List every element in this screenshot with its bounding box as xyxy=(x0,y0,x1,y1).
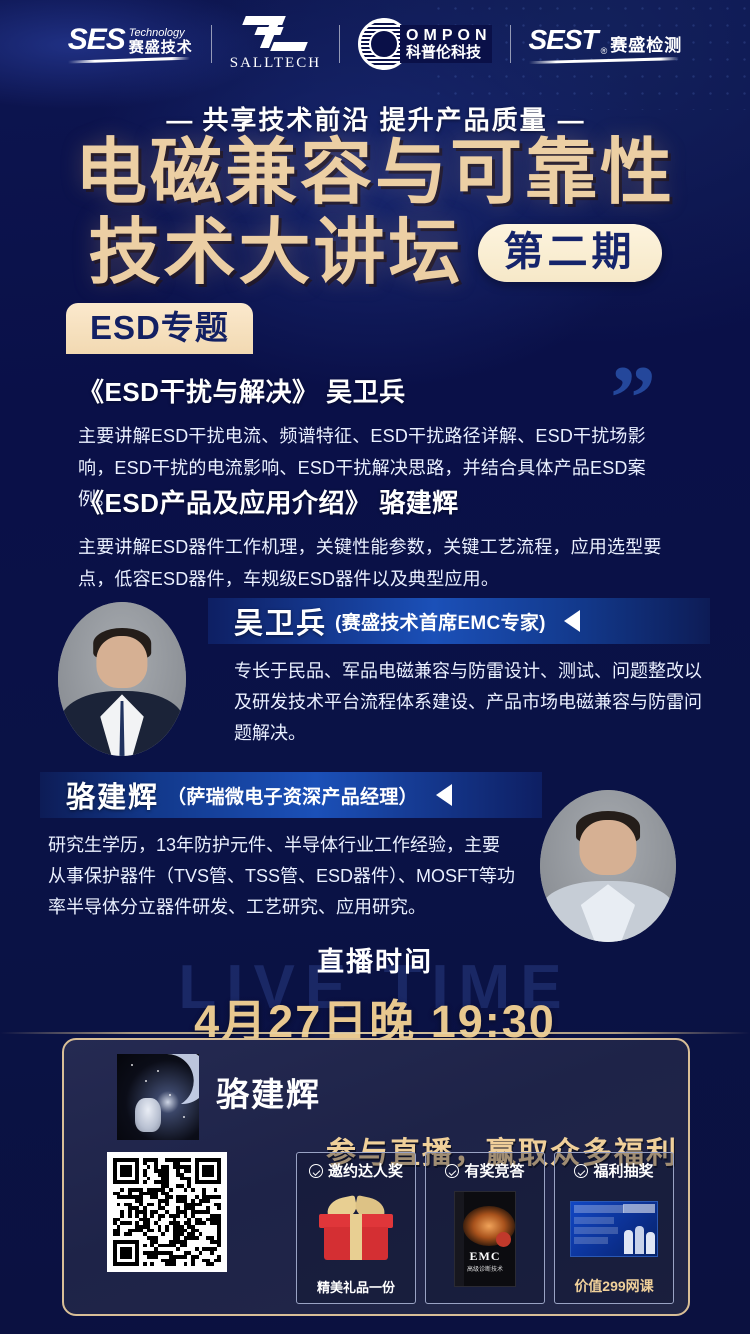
speaker-card-1: 吴卫兵 (赛盛技术首席EMC专家) 专长于民品、军品电磁兼容与防雷设计、测试、问… xyxy=(40,598,710,760)
hero-title-line2: 技术大讲坛 xyxy=(88,216,463,292)
compon-wordmark: OMPON xyxy=(406,27,491,45)
swoosh-icon xyxy=(529,57,679,64)
triangle-left-icon xyxy=(564,610,580,632)
logo-divider xyxy=(339,25,340,63)
hero-title-block: 电磁兼容与可靠性 技术大讲坛 第二期 xyxy=(0,136,750,291)
course-description: 主要讲解ESD器件工作机理，关键性能参数，关键工艺流程，应用选型要点，低容ESD… xyxy=(78,532,678,595)
hero-subline: —共享技术前沿 提升产品质量— xyxy=(0,100,750,137)
book-icon: EMC 高级诊断技术 xyxy=(454,1191,516,1287)
registered-mark-icon: ® xyxy=(601,46,608,56)
live-time-label: 直播时间 xyxy=(0,940,750,979)
speaker-name-bar: 骆建辉 （萨瑞微电子资深产品经理） xyxy=(40,772,542,818)
course-title: 《ESD产品及应用介绍》 骆建辉 xyxy=(78,483,678,520)
poster-root: SES Technology 赛盛技术 SALLTECH xyxy=(0,0,750,1334)
dash-left: — xyxy=(166,105,192,135)
ses-tagline: Technology xyxy=(129,28,185,39)
prize-title: 有奖竞答 xyxy=(464,1160,524,1181)
topic-tab-esd: ESD专题 xyxy=(66,303,253,354)
prize-list: 邀约达人奖 精美礼品一份 有奖竞答 xyxy=(296,1152,674,1304)
speaker-bio: 专长于民品、军品电磁兼容与防雷设计、测试、问题整改以及研发技术平台流程体系建设、… xyxy=(234,656,712,749)
avatar xyxy=(58,602,186,756)
swoosh-icon xyxy=(68,57,190,64)
salltech-wordmark: SALLTECH xyxy=(230,55,321,72)
check-circle-icon xyxy=(309,1164,323,1178)
speaker-role: (赛盛技术首席EMC专家) xyxy=(335,608,546,635)
promo-card: 骆建辉 参与直播，赢取众多福利 邀约达人奖 精美礼品一份 xyxy=(62,1038,690,1316)
astronaut-thumbnail-icon xyxy=(117,1054,199,1140)
prize-caption: 价值299网课 xyxy=(574,1276,653,1303)
logo-salltech: SALLTECH xyxy=(230,16,321,72)
logo-divider xyxy=(211,25,212,63)
logo-sest: SEST ® 赛盛检测 xyxy=(529,24,683,64)
speaker-name-bar: 吴卫兵 (赛盛技术首席EMC专家) xyxy=(208,598,710,644)
prize-item-2: 有奖竞答 EMC 高级诊断技术 xyxy=(425,1152,545,1304)
compon-chinese-name: 科普伦科技 xyxy=(406,45,481,62)
course-item-2: 《ESD产品及应用介绍》 骆建辉 主要讲解ESD器件工作机理，关键性能参数，关键… xyxy=(78,483,678,595)
hero-title-line1: 电磁兼容与可靠性 xyxy=(0,136,750,212)
prize-caption: 精美礼品一份 xyxy=(317,1277,395,1303)
sest-chinese-name: 赛盛检测 xyxy=(610,31,682,56)
speaker-name: 骆建辉 xyxy=(66,774,159,816)
gift-icon xyxy=(319,1196,393,1262)
speaker-card-2: 骆建辉 （萨瑞微电子资深产品经理） 研究生学历，13年防护元件、半导体行业工作经… xyxy=(40,772,710,950)
prize-art: EMC 高级诊断技术 xyxy=(426,1181,544,1296)
salltech-mark-icon xyxy=(242,16,308,52)
edition-badge: 第二期 xyxy=(478,224,662,282)
prize-title: 邀约达人奖 xyxy=(328,1160,403,1181)
logo-ses: SES Technology 赛盛技术 xyxy=(68,25,193,64)
logo-divider xyxy=(510,25,511,63)
speaker-name: 吴卫兵 xyxy=(234,600,327,642)
triangle-left-icon xyxy=(436,784,452,806)
logo-compon: OMPON 科普伦科技 xyxy=(358,18,491,70)
prize-art xyxy=(555,1181,673,1276)
check-circle-icon xyxy=(445,1164,459,1178)
dash-right: — xyxy=(558,105,584,135)
qr-code[interactable] xyxy=(107,1152,227,1272)
promo-host-name: 骆建辉 xyxy=(216,1068,321,1116)
course-title: 《ESD干扰与解决》 吴卫兵 xyxy=(78,372,678,409)
prize-item-3: 福利抽奖 价值299网课 xyxy=(554,1152,674,1304)
hero-subline-text: 共享技术前沿 提升产品质量 xyxy=(202,105,547,135)
speaker-bio: 研究生学历，13年防护元件、半导体行业工作经验，主要从事保护器件（TVS管、TS… xyxy=(48,830,518,923)
prize-item-1: 邀约达人奖 精美礼品一份 xyxy=(296,1152,416,1304)
prize-title: 福利抽奖 xyxy=(593,1160,653,1181)
gold-divider xyxy=(0,1032,750,1034)
sest-wordmark: SEST xyxy=(529,24,598,56)
ses-wordmark: SES xyxy=(68,25,125,55)
speaker-role: （萨瑞微电子资深产品经理） xyxy=(167,782,418,809)
prize-art xyxy=(297,1181,415,1277)
course-thumbnail-icon xyxy=(570,1201,658,1257)
logo-bar: SES Technology 赛盛技术 SALLTECH xyxy=(0,0,750,88)
avatar xyxy=(540,790,676,942)
ses-chinese-name: 赛盛技术 xyxy=(129,40,193,55)
check-circle-icon xyxy=(574,1164,588,1178)
